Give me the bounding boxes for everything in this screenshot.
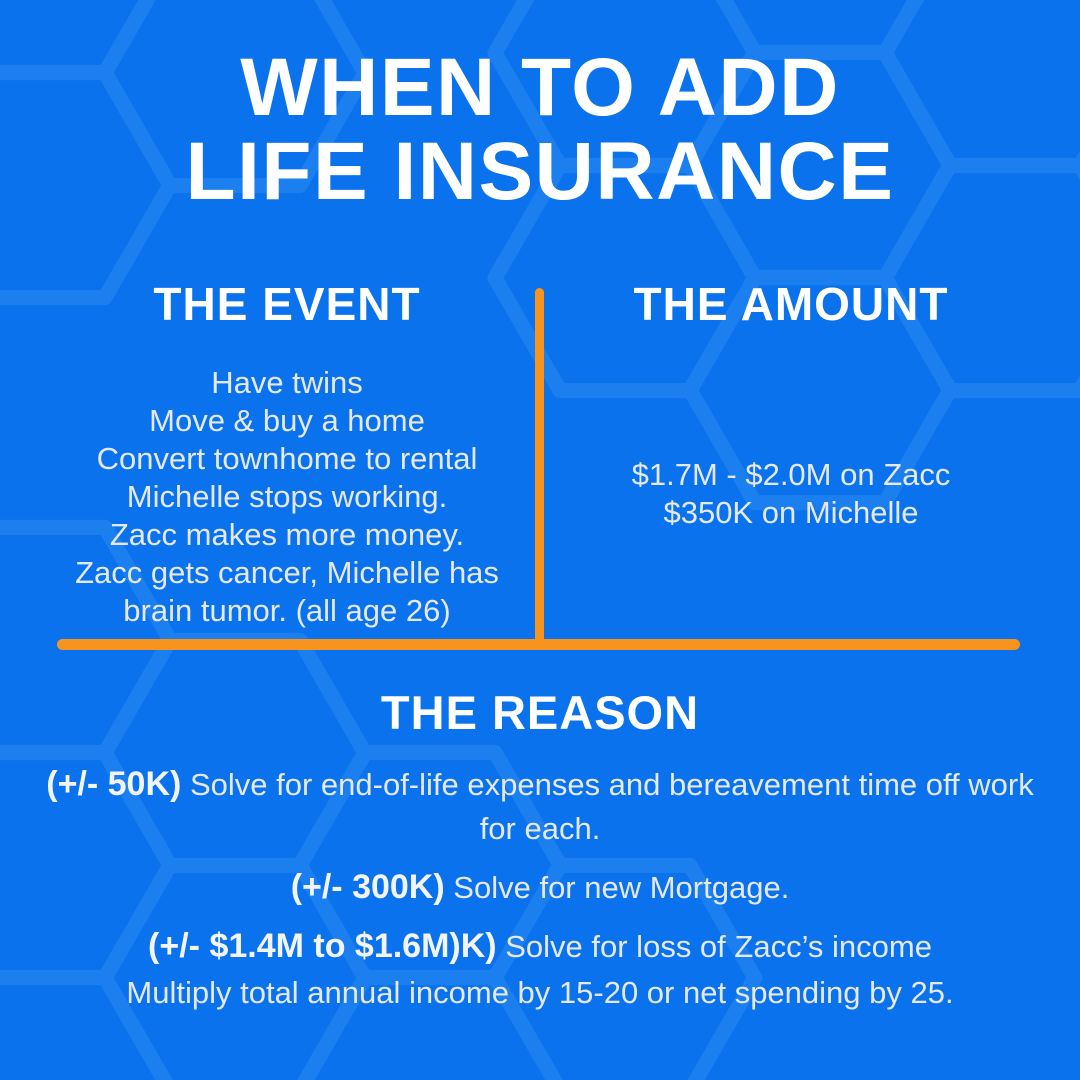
page-title: WHEN TO ADD LIFE INSURANCE — [0, 46, 1080, 214]
reason-item-amount: (+/- 300K) — [291, 868, 445, 906]
reason-note: Multiply total annual income by 15-20 or… — [0, 971, 1080, 1015]
event-list-item: Zacc makes more money. — [57, 516, 517, 554]
reason-item-text: Solve for new Mortgage. — [445, 870, 790, 905]
amount-list: $1.7M - $2.0M on Zacc $350K on Michelle — [562, 456, 1020, 532]
vertical-divider — [535, 288, 544, 646]
title-line-2: LIFE INSURANCE — [0, 130, 1080, 214]
event-column-heading: THE EVENT — [57, 278, 517, 330]
amount-column-heading: THE AMOUNT — [562, 278, 1020, 330]
event-list: Have twins Move & buy a home Convert tow… — [57, 364, 517, 630]
infographic-canvas: WHEN TO ADD LIFE INSURANCE THE EVENT Hav… — [0, 0, 1080, 1080]
event-list-item: Have twins — [57, 364, 517, 402]
reason-item-text: Solve for loss of Zacc’s income — [497, 929, 932, 964]
amount-list-item: $1.7M - $2.0M on Zacc — [562, 456, 1020, 494]
reason-section-heading: THE REASON — [0, 686, 1080, 740]
event-list-item: Move & buy a home — [57, 402, 517, 440]
reason-item: (+/- 300K) Solve for new Mortgage. — [0, 865, 1080, 910]
event-list-item: Michelle stops working. — [57, 478, 517, 516]
event-list-item: Convert townhome to rental — [57, 440, 517, 478]
reason-section: THE REASON (+/- 50K) Solve for end-of-li… — [0, 686, 1080, 1015]
reason-item-text: Solve for end-of-life expenses and berea… — [181, 767, 1033, 846]
amount-list-item: $350K on Michelle — [562, 494, 1020, 532]
reason-item: (+/- $1.4M to $1.6M)K) Solve for loss of… — [0, 924, 1080, 969]
horizontal-divider — [57, 639, 1020, 650]
reason-item-amount: (+/- 50K) — [46, 765, 181, 803]
reason-item: (+/- 50K) Solve for end-of-life expenses… — [0, 762, 1080, 851]
amount-column: THE AMOUNT $1.7M - $2.0M on Zacc $350K o… — [562, 278, 1020, 646]
reason-item-amount: (+/- $1.4M to $1.6M)K) — [148, 927, 497, 965]
title-line-1: WHEN TO ADD — [0, 46, 1080, 130]
event-list-item: Zacc gets cancer, Michelle has brain tum… — [57, 554, 517, 630]
event-column: THE EVENT Have twins Move & buy a home C… — [57, 278, 517, 646]
